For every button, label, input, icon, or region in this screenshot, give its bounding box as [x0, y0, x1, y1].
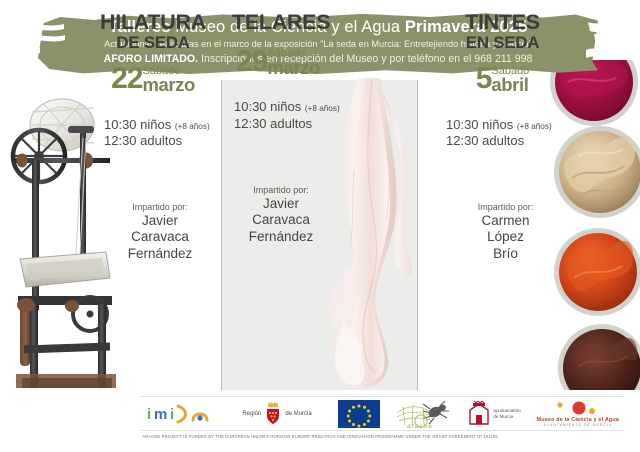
- workshop-day-number: 5: [476, 65, 492, 94]
- workshop-time-children: 10:30 niños: [104, 117, 171, 132]
- given-by-label: Impartido por:: [232, 185, 330, 196]
- instructor-name-line1: Javier: [102, 213, 218, 229]
- imida-logo: i m i: [140, 397, 225, 430]
- workshop-title: TELARES: [232, 0, 352, 34]
- instructor-name-line1: Carmen: [446, 213, 565, 229]
- instructor-name-line2: Caravaca: [232, 212, 330, 228]
- instructor-name-line2: Caravaca: [102, 229, 218, 245]
- poster-root: Talleres Museo de la Ciencia y el Agua P…: [0, 0, 640, 452]
- ayuntamiento-de-murcia-logo: ayuntamiento de Murcia: [458, 397, 530, 430]
- workshop-title-line2: DE SEDA: [88, 34, 218, 51]
- workshop-age-note: (+8 años): [305, 104, 340, 113]
- workshop-time-adults: 12:30 adultos: [446, 133, 565, 150]
- column-divider-left: [221, 80, 222, 390]
- instructor-name-line1: Javier: [232, 196, 330, 212]
- workshop-age-note: (+8 años): [175, 122, 210, 131]
- museo-subwordmark: AYUNTAMIENTO DE MURCIA: [544, 423, 612, 427]
- workshop-month: marzo: [142, 76, 195, 95]
- workshop-title-line1: TELARES: [232, 12, 352, 34]
- funding-disclaimer: ARACNE PROJECT IS FUNDED BY THE EUROPEAN…: [0, 434, 640, 439]
- workshop-instructor-block: Impartido por: Javier Caravaca Fernández: [88, 202, 218, 262]
- workshop-time-adults: 12:30 adultos: [104, 133, 218, 150]
- instructor-name-line3: Fernández: [232, 229, 330, 245]
- workshop-times: 10:30 niños (+8 años) 12:30 adultos: [232, 99, 352, 132]
- european-union-flag-logo: [329, 397, 390, 430]
- workshop-column-telares: TELARES 29 Sábado marzo 10:30 niños (+8 …: [232, 0, 352, 310]
- workshop-instructor-block: Impartido por: Javier Caravaca Fernández: [232, 185, 352, 245]
- given-by-label: Impartido por:: [446, 202, 565, 213]
- svg-text:i: i: [170, 406, 174, 423]
- workshop-month: marzo: [267, 59, 320, 78]
- region-label-right: de Murcia: [285, 411, 311, 417]
- aracne-logo: aracne: [390, 397, 459, 430]
- workshop-time-children: 10:30 niños: [234, 99, 301, 114]
- region-de-murcia-logo: Región de Murcia: [225, 397, 329, 430]
- workshop-times: 10:30 niños (+8 años) 12:30 adultos: [88, 117, 218, 150]
- workshop-title-line1: TINTES: [440, 12, 565, 34]
- workshop-time-children-row: 10:30 niños (+8 años): [446, 117, 565, 134]
- instructor-name-line3: Brío: [446, 246, 565, 262]
- workshop-time-children-row: 10:30 niños (+8 años): [104, 117, 218, 134]
- svg-text:i: i: [147, 406, 151, 423]
- workshop-time-adults: 12:30 adultos: [234, 116, 352, 133]
- given-by-label: Impartido por:: [102, 202, 218, 213]
- workshop-date: 5 Sábado abril: [440, 65, 565, 95]
- footer-logo-bar: i m i Región de Murcia: [140, 396, 625, 431]
- aracne-wordmark: aracne: [407, 423, 433, 429]
- ayto-label: ayuntamiento de Murcia: [493, 408, 521, 419]
- workshop-time-children: 10:30 niños: [446, 117, 513, 132]
- workshop-title: HILATURA DE SEDA: [88, 0, 218, 51]
- workshop-age-note: (+8 años): [517, 122, 552, 131]
- workshop-day-number: 29: [236, 48, 267, 77]
- workshop-times: 10:30 niños (+8 años) 12:30 adultos: [440, 117, 565, 150]
- workshop-instructor-block: Impartido por: Carmen López Brío: [440, 202, 565, 262]
- workshop-month: abril: [491, 76, 529, 95]
- region-label-left: Región: [242, 411, 261, 417]
- museo-ciencia-agua-logo: Museo de la Ciencia y el Agua AYUNTAMIEN…: [531, 397, 625, 430]
- instructor-name-line3: Fernández: [102, 246, 218, 262]
- workshop-title: TINTES EN SEDA: [440, 0, 565, 51]
- svg-text:m: m: [154, 406, 167, 423]
- workshop-title-line1: HILATURA: [88, 12, 218, 34]
- workshop-time-children-row: 10:30 niños (+8 años): [234, 99, 352, 116]
- workshop-date: 29 Sábado marzo: [232, 48, 352, 78]
- workshop-column-tintes: TINTES EN SEDA 5 Sábado abril 10:30 niño…: [440, 0, 565, 310]
- instructor-name-line2: López: [446, 229, 565, 245]
- workshop-day-number: 22: [111, 65, 142, 94]
- workshop-date: 22 Sábado marzo: [88, 65, 218, 95]
- ayto-line2: de Murcia: [493, 414, 513, 419]
- workshop-title-line2: EN SEDA: [440, 34, 565, 51]
- workshop-column-hilatura: HILATURA DE SEDA 22 Sábado marzo 10:30 n…: [88, 0, 218, 310]
- ayto-line1: ayuntamiento: [493, 408, 521, 413]
